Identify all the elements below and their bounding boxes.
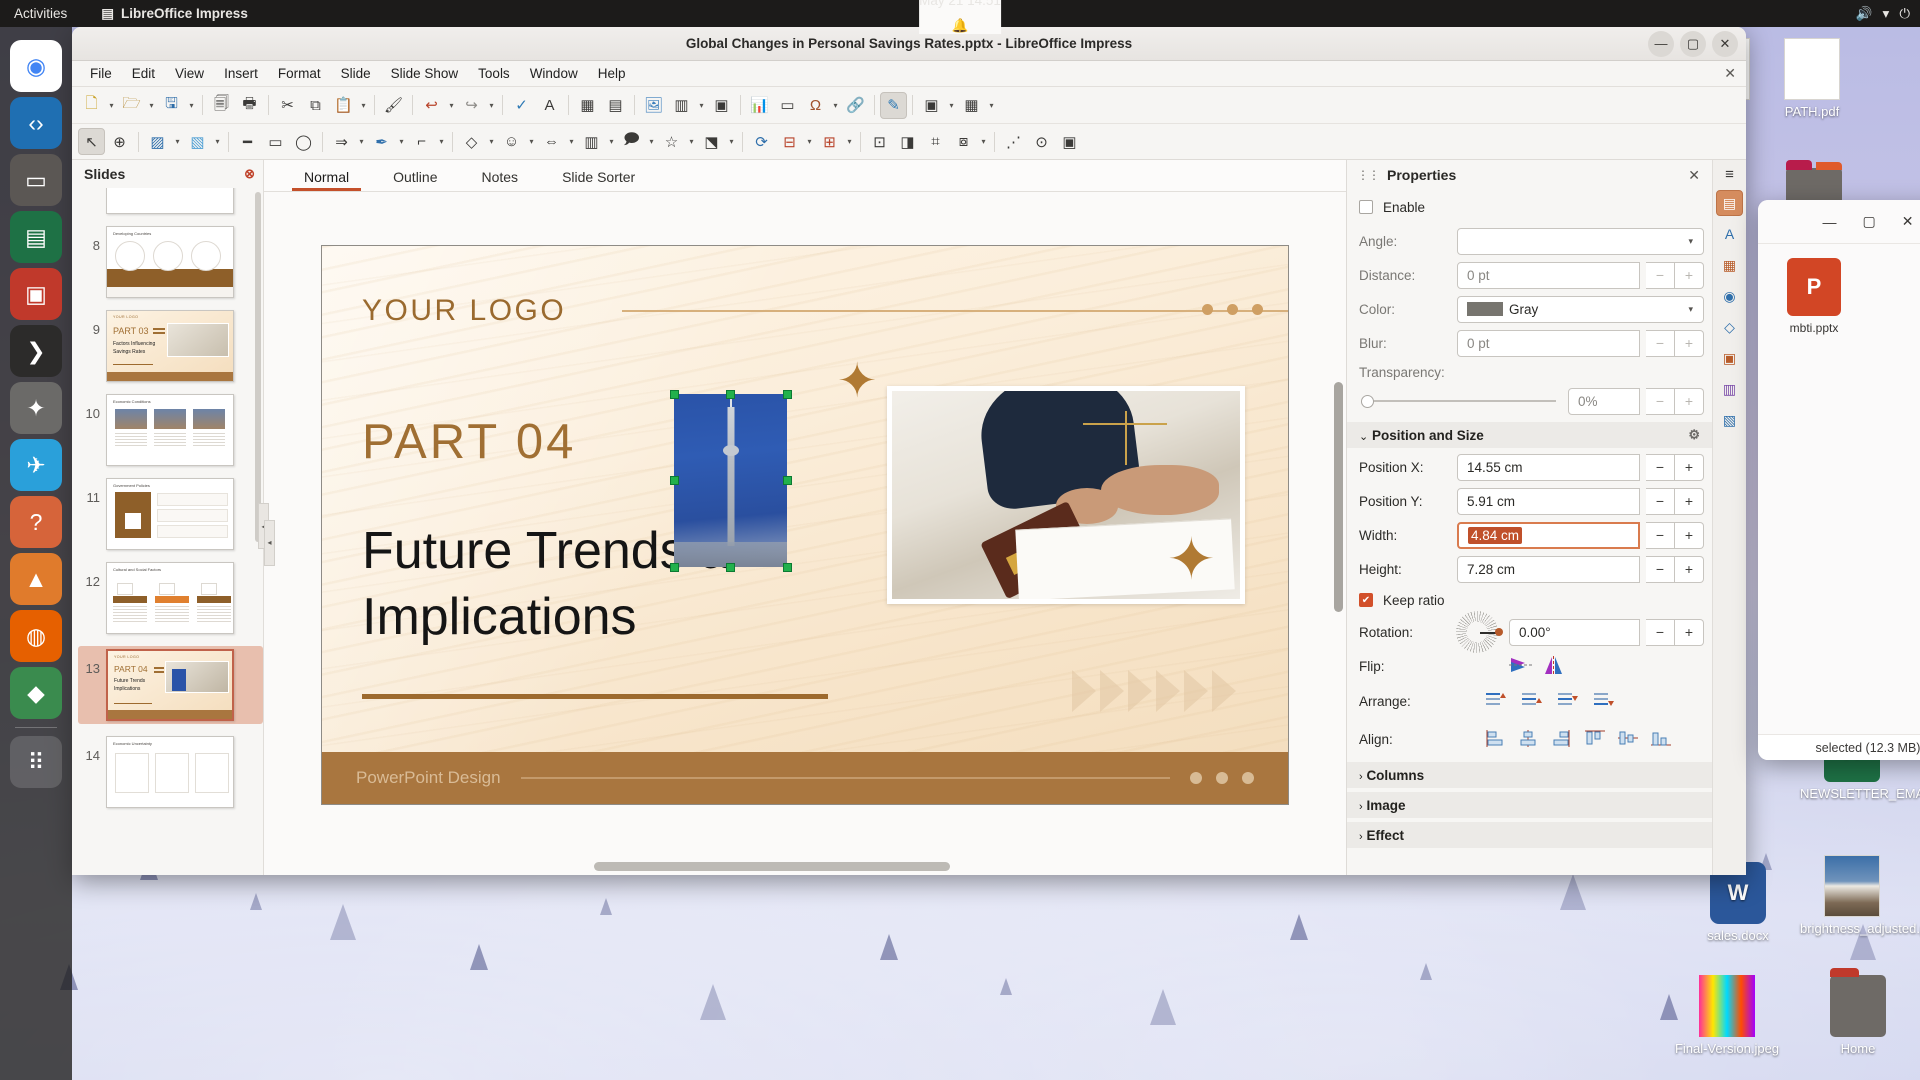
curves-and-polygons-icon[interactable]: ✒ bbox=[368, 128, 395, 155]
slide-part-label[interactable]: PART 04 bbox=[362, 414, 576, 470]
slide-number: 14 bbox=[78, 736, 100, 763]
section-title: Columns bbox=[1366, 768, 1424, 783]
menu-bar: File Edit View Insert Format Slide Slide… bbox=[72, 61, 1746, 87]
grip-icon[interactable]: ⋮⋮ bbox=[1357, 168, 1379, 182]
decrement-icon[interactable]: − bbox=[1646, 619, 1675, 646]
insert-image-icon[interactable]: 🖼 bbox=[640, 92, 667, 119]
bell-icon[interactable]: 🔔 bbox=[952, 18, 969, 34]
file-manager-titlebar: — ▢ ✕ bbox=[1758, 200, 1920, 244]
flip-horizontally-icon[interactable] bbox=[1543, 656, 1565, 676]
slide-layout-icon[interactable]: ▦ bbox=[958, 92, 985, 119]
header-dots bbox=[1202, 304, 1263, 315]
chevron-down-icon[interactable]: ▾ bbox=[830, 101, 841, 110]
dock-item-gimp[interactable]: ✦ bbox=[10, 382, 62, 434]
dock-item-chrome[interactable]: ◉ bbox=[10, 40, 62, 92]
keep-ratio-checkbox[interactable]: ✔ bbox=[1359, 593, 1373, 607]
drawing-toolbar: ↖ ⊕ ▨ ▾ ▧ ▾ ━ ▭ ◯ ⇒ ▾ ✒ ▾ ⌐ ▾ ◇ ▾ ☺ ▾ ⇔ … bbox=[72, 124, 1746, 160]
shapes-deck-icon[interactable]: ◇ bbox=[1716, 314, 1743, 340]
canvas-horizontal-scrollbar[interactable] bbox=[264, 862, 1346, 871]
blur-value: 0 pt bbox=[1467, 336, 1490, 351]
pptx-icon: P bbox=[1787, 258, 1841, 316]
flowchart-shapes-icon[interactable]: ▥ bbox=[578, 128, 605, 155]
blur-input[interactable]: 0 pt bbox=[1457, 330, 1640, 357]
dock-item-firefox[interactable]: ◍ bbox=[10, 610, 62, 662]
resize-handle-top-right[interactable] bbox=[783, 390, 792, 399]
slide-thumbnail-9[interactable]: 9 YOUR LOGO PART 03 Factors Influencing … bbox=[78, 310, 263, 382]
position-y-value: 5.91 cm bbox=[1467, 494, 1515, 509]
power-icon: ⏻ bbox=[1899, 6, 1910, 22]
chevron-down-icon[interactable]: ▾ bbox=[978, 137, 989, 146]
impress-titlebar: Global Changes in Personal Savings Rates… bbox=[72, 27, 1746, 61]
thumbnail-logo: YOUR LOGO bbox=[114, 655, 139, 659]
close-icon[interactable]: ✕ bbox=[1688, 167, 1700, 184]
dock-item-vscode[interactable]: ‹› bbox=[10, 97, 62, 149]
columns-section-header[interactable]: › Columns bbox=[1347, 762, 1712, 788]
transparency-slider[interactable] bbox=[1359, 388, 1562, 415]
ubuntu-dock: ◉ ‹› ▭ ▤ ▣ ❯ ✦ ✈ ? ▲ ◍ ◆ ⠿ bbox=[0, 27, 72, 1080]
chevron-down-icon[interactable]: ▾ bbox=[726, 137, 737, 146]
width-input[interactable]: 4.84 cm bbox=[1457, 522, 1640, 549]
insert-media-icon[interactable]: ▣ bbox=[708, 92, 735, 119]
slide-logo-text[interactable]: YOUR LOGO bbox=[362, 294, 566, 328]
logo-divider-line bbox=[622, 310, 1289, 312]
chevron-down-icon[interactable]: ▾ bbox=[436, 137, 447, 146]
slide-thumbnail-8[interactable]: 8 Developing Countries bbox=[78, 226, 263, 298]
chevron-down-icon[interactable]: ▾ bbox=[212, 137, 223, 146]
insert-chart-icon[interactable]: 📊 bbox=[746, 92, 773, 119]
decrement-icon[interactable]: − bbox=[1646, 388, 1675, 415]
new-slide-icon[interactable]: ▣ bbox=[918, 92, 945, 119]
dock-item-help[interactable]: ? bbox=[10, 496, 62, 548]
desktop-icon-brightness-png[interactable]: brightness_adjusted.png bbox=[1800, 855, 1904, 937]
arrange-row: Arrange: bbox=[1359, 682, 1704, 720]
transparency-label: Transparency: bbox=[1359, 365, 1451, 380]
filter-icon[interactable]: ⧇ bbox=[950, 128, 977, 155]
fm-minimize-button[interactable]: — bbox=[1823, 214, 1837, 230]
editing-area: Normal Outline Notes Slide Sorter YOUR L… bbox=[264, 160, 1346, 875]
master-slides-deck-icon[interactable]: ▣ bbox=[1716, 345, 1743, 371]
position-and-size-section-header[interactable]: ⌄ Position and Size ⚙ bbox=[1347, 422, 1712, 448]
decrement-icon[interactable]: − bbox=[1646, 522, 1675, 549]
slide-number: 8 bbox=[78, 226, 100, 253]
shadow-color-row: Color: Gray ▾ bbox=[1359, 292, 1704, 326]
position-y-input[interactable]: 5.91 cm bbox=[1457, 488, 1640, 515]
dock-item-telegram[interactable]: ✈ bbox=[10, 439, 62, 491]
chevron-down-icon[interactable]: ▾ bbox=[446, 101, 457, 110]
chevron-down-icon[interactable]: ▾ bbox=[696, 101, 707, 110]
chevron-right-icon: › bbox=[1359, 771, 1363, 783]
star-decoration-top: ✦ bbox=[837, 358, 877, 406]
minimize-button[interactable]: — bbox=[1648, 31, 1674, 57]
increment-icon[interactable]: + bbox=[1675, 522, 1704, 549]
align-middle-icon[interactable] bbox=[1617, 729, 1639, 749]
color-dropdown[interactable]: Gray ▾ bbox=[1457, 296, 1704, 323]
resize-handle-bottom-left[interactable] bbox=[670, 563, 679, 572]
clock-area[interactable]: May 21 14:51 🔔 bbox=[919, 0, 1001, 34]
bring-forward-icon[interactable] bbox=[1521, 691, 1543, 711]
resize-handle-bottom-center[interactable] bbox=[726, 563, 735, 572]
sidebar-body: Enable Angle: ▾ Distance: 0 pt bbox=[1347, 190, 1712, 875]
3d-objects-icon[interactable]: ⬔ bbox=[698, 128, 725, 155]
standard-toolbar: 🗋 ▾ 🗁 ▾ 🖫 ▾ 🗐 🖶 ✂ ⧉ 📋 ▾ 🖌 ↩ ▾ ↪ ▾ ✓ A ▦ … bbox=[72, 87, 1746, 124]
rotation-row: Rotation: 0.00° − + bbox=[1359, 614, 1704, 650]
tab-outline[interactable]: Outline bbox=[371, 164, 459, 191]
ellipse-icon[interactable]: ◯ bbox=[290, 128, 317, 155]
rotation-value: 0.00° bbox=[1519, 625, 1551, 640]
fm-close-button[interactable]: ✕ bbox=[1902, 213, 1914, 230]
color-value: Gray bbox=[1509, 302, 1538, 317]
slides-panel: Slides ⊗ 7 8 Developing Countries bbox=[72, 160, 264, 875]
increment-icon[interactable]: + bbox=[1675, 619, 1704, 646]
transparency-row: 0% − + bbox=[1359, 384, 1704, 418]
chevron-down-icon[interactable]: ▾ bbox=[146, 101, 157, 110]
file-manager-window: — ▢ ✕ P mbti.pptx selected (12.3 MB) bbox=[1758, 200, 1920, 760]
copy-icon[interactable]: ⧉ bbox=[302, 92, 329, 119]
chevron-down-icon[interactable]: ▾ bbox=[606, 137, 617, 146]
increment-icon[interactable]: + bbox=[1675, 556, 1704, 583]
system-status-area[interactable]: 🔊 ▾ ⏻ bbox=[1856, 6, 1910, 22]
thumbnail-title: Economic Uncertainty bbox=[113, 741, 152, 746]
dock-item-terminal[interactable]: ❯ bbox=[10, 325, 62, 377]
rotation-input[interactable]: 0.00° bbox=[1509, 619, 1640, 646]
desktop-icon-final-version-jpeg[interactable]: Final-Version.jpeg bbox=[1672, 975, 1782, 1057]
menu-slide-show[interactable]: Slide Show bbox=[381, 64, 469, 83]
paste-icon[interactable]: 📋 bbox=[330, 92, 357, 119]
menu-tools[interactable]: Tools bbox=[468, 64, 520, 83]
shadow-enable-row: Enable bbox=[1359, 190, 1704, 224]
selected-image-tokyo-skytree[interactable] bbox=[674, 394, 787, 567]
slide-thumbnail-14[interactable]: 14 Economic Uncertainty bbox=[78, 736, 263, 808]
canvas-vertical-scrollbar[interactable] bbox=[1334, 232, 1343, 851]
distribute-selection-icon[interactable]: ⊡ bbox=[866, 128, 893, 155]
thumbnail-subtitle: Future Trends Implications bbox=[114, 678, 160, 693]
show-applications-button[interactable]: ⠿ bbox=[10, 736, 62, 788]
select-icon[interactable]: ↖ bbox=[78, 128, 105, 155]
align-center-icon[interactable] bbox=[1518, 729, 1540, 749]
clone-formatting-icon[interactable]: 🖌 bbox=[380, 92, 407, 119]
chevron-decoration bbox=[1072, 670, 1236, 712]
points-icon[interactable]: ⋰ bbox=[1000, 128, 1027, 155]
gallery-deck-icon[interactable]: ▦ bbox=[1716, 252, 1743, 278]
chevron-down-icon[interactable]: ▾ bbox=[356, 137, 367, 146]
work-area: Slides ⊗ 7 8 Developing Countries bbox=[72, 160, 1746, 875]
dock-item-software[interactable]: ◆ bbox=[10, 667, 62, 719]
align-bottom-icon[interactable] bbox=[1650, 729, 1672, 749]
chevron-down-icon[interactable]: ▾ bbox=[106, 101, 117, 110]
file-manager-file-grid: P mbti.pptx bbox=[1758, 244, 1920, 349]
sidebar-settings-menu-icon[interactable]: ≡ bbox=[1725, 166, 1734, 183]
chevron-down-icon[interactable]: ▾ bbox=[486, 101, 497, 110]
increment-icon[interactable]: + bbox=[1675, 330, 1704, 357]
keep-ratio-label: Keep ratio bbox=[1383, 593, 1445, 608]
close-icon[interactable]: ⊗ bbox=[244, 166, 255, 182]
thumbnail-title: Economic Conditions bbox=[113, 399, 151, 404]
transparency-stepper[interactable]: − + bbox=[1646, 388, 1704, 415]
align-row: Align: bbox=[1359, 720, 1704, 758]
effect-section-header[interactable]: › Effect bbox=[1347, 822, 1712, 848]
width-stepper[interactable]: − + bbox=[1646, 522, 1704, 549]
status-text: selected (12.3 MB) bbox=[1816, 741, 1920, 755]
desktop-icon-label: sales.docx bbox=[1688, 928, 1788, 944]
height-input[interactable]: 7.28 cm bbox=[1457, 556, 1640, 583]
increment-icon[interactable]: + bbox=[1675, 388, 1704, 415]
position-x-row: Position X: 14.55 cm − + bbox=[1359, 450, 1704, 484]
chevron-down-icon[interactable]: ▾ bbox=[172, 137, 183, 146]
thumbnail-image: Economic Uncertainty bbox=[106, 736, 234, 808]
desktop-icon-home[interactable]: Home bbox=[1806, 975, 1910, 1057]
rectangle-icon[interactable]: ▭ bbox=[262, 128, 289, 155]
chevron-down-icon[interactable]: ▾ bbox=[186, 101, 197, 110]
keep-ratio-row: ✔ Keep ratio bbox=[1359, 586, 1704, 614]
footer-text: PowerPoint Design bbox=[356, 768, 501, 788]
menu-file[interactable]: File bbox=[80, 64, 122, 83]
view-tabs: Normal Outline Notes Slide Sorter bbox=[264, 160, 1346, 192]
file-item-mbti-pptx[interactable]: P mbti.pptx bbox=[1768, 258, 1860, 335]
align-top-icon[interactable] bbox=[1584, 729, 1606, 749]
menu-insert[interactable]: Insert bbox=[214, 64, 268, 83]
dock-item-vlc[interactable]: ▲ bbox=[10, 553, 62, 605]
fill-color-icon[interactable]: ▨ bbox=[144, 128, 171, 155]
fm-maximize-button[interactable]: ▢ bbox=[1863, 213, 1876, 230]
slide-thumbnail-11[interactable]: 11 Government Policies bbox=[78, 478, 263, 550]
hyperlink-icon[interactable]: 🔗 bbox=[842, 92, 869, 119]
chevron-down-icon[interactable]: ▾ bbox=[526, 137, 537, 146]
menu-edit[interactable]: Edit bbox=[122, 64, 165, 83]
decrement-icon[interactable]: − bbox=[1646, 262, 1675, 289]
angle-label: Angle: bbox=[1359, 234, 1451, 249]
basic-shapes-icon[interactable]: ◇ bbox=[458, 128, 485, 155]
open-icon[interactable]: 🗁 bbox=[118, 92, 145, 119]
insert-line-icon[interactable]: ━ bbox=[234, 128, 261, 155]
menu-slide[interactable]: Slide bbox=[331, 64, 381, 83]
slide-transition-deck-icon[interactable]: ▧ bbox=[1716, 407, 1743, 433]
slider-knob[interactable] bbox=[1361, 395, 1374, 408]
chevron-down-icon[interactable]: ▾ bbox=[804, 137, 815, 146]
slide-footer: PowerPoint Design bbox=[322, 752, 1288, 804]
distance-input[interactable]: 0 pt bbox=[1457, 262, 1640, 289]
slide-number: 11 bbox=[78, 478, 100, 505]
active-app-name: LibreOffice Impress bbox=[121, 6, 248, 21]
distance-value: 0 pt bbox=[1467, 268, 1490, 283]
image-section-header[interactable]: › Image bbox=[1347, 792, 1712, 818]
resize-handle-top-left[interactable] bbox=[670, 390, 679, 399]
chevron-down-icon[interactable]: ▾ bbox=[844, 137, 855, 146]
thumbnail-image: Cultural and Social Factors bbox=[106, 562, 234, 634]
slide-thumbnail-7[interactable]: 7 bbox=[78, 188, 263, 214]
activities-button[interactable]: Activities bbox=[0, 6, 79, 21]
gluepoints-icon[interactable]: ⊙ bbox=[1028, 128, 1055, 155]
slides-panel-scrollbar[interactable] bbox=[255, 192, 261, 542]
align-objects-icon[interactable]: ⊟ bbox=[776, 128, 803, 155]
zoom-icon[interactable]: ⊕ bbox=[106, 128, 133, 155]
volume-icon: 🔊 bbox=[1856, 6, 1873, 22]
dock-item-files[interactable]: ▭ bbox=[10, 154, 62, 206]
position-x-input[interactable]: 14.55 cm bbox=[1457, 454, 1640, 481]
align-left-icon[interactable] bbox=[1485, 729, 1507, 749]
redo-icon[interactable]: ↪ bbox=[458, 92, 485, 119]
flip-row: Flip: bbox=[1359, 650, 1704, 682]
distance-label: Distance: bbox=[1359, 268, 1451, 283]
arrange-label: Arrange: bbox=[1359, 694, 1451, 709]
symbol-shapes-icon[interactable]: ☺ bbox=[498, 128, 525, 155]
section-title: Effect bbox=[1366, 828, 1404, 843]
decrement-icon[interactable]: − bbox=[1646, 556, 1675, 583]
display-views-icon[interactable]: ▦ bbox=[574, 92, 601, 119]
chevron-down-icon[interactable]: ▾ bbox=[646, 137, 657, 146]
color-label: Color: bbox=[1359, 302, 1451, 317]
thumbnail-image: YOUR LOGO PART 04 Future Trends Implicat… bbox=[106, 649, 234, 721]
bring-to-front-icon[interactable] bbox=[1485, 691, 1507, 711]
arrange-icon[interactable]: ⊞ bbox=[816, 128, 843, 155]
increment-icon[interactable]: + bbox=[1675, 488, 1704, 515]
menu-format[interactable]: Format bbox=[268, 64, 331, 83]
slide-number: 9 bbox=[78, 310, 100, 337]
new-icon[interactable]: 🗋 bbox=[78, 92, 105, 119]
height-stepper[interactable]: − + bbox=[1646, 556, 1704, 583]
navigator-deck-icon[interactable]: ◉ bbox=[1716, 283, 1743, 309]
chevron-down-icon[interactable]: ▾ bbox=[486, 137, 497, 146]
position-y-row: Position Y: 5.91 cm − + bbox=[1359, 484, 1704, 518]
dock-item-impress[interactable]: ▣ bbox=[10, 268, 62, 320]
insert-table-icon[interactable]: ▥ bbox=[668, 92, 695, 119]
send-to-back-icon[interactable] bbox=[1593, 691, 1615, 711]
connectors-icon[interactable]: ⌐ bbox=[408, 128, 435, 155]
position-y-stepper[interactable]: − + bbox=[1646, 488, 1704, 515]
decrement-icon[interactable]: − bbox=[1646, 488, 1675, 515]
home-icon bbox=[1830, 975, 1886, 1037]
chevron-down-icon[interactable]: ▾ bbox=[946, 101, 957, 110]
stars-and-banners-icon[interactable]: ☆ bbox=[658, 128, 685, 155]
thumbnail-image: YOUR LOGO PART 03 Factors Influencing Sa… bbox=[106, 310, 234, 382]
section-title: Position and Size bbox=[1372, 428, 1484, 443]
align-label: Align: bbox=[1359, 732, 1451, 747]
thumbnail-title: Cultural and Social Factors bbox=[113, 567, 161, 572]
resize-handle-middle-left[interactable] bbox=[670, 476, 679, 485]
blur-stepper[interactable]: − + bbox=[1646, 330, 1704, 357]
send-backward-icon[interactable] bbox=[1557, 691, 1579, 711]
impress-icon: ▤ bbox=[101, 6, 114, 22]
line-ends-with-arrow-icon[interactable]: ⇒ bbox=[328, 128, 355, 155]
chevron-down-icon[interactable]: ▾ bbox=[986, 101, 997, 110]
insert-special-character-icon[interactable]: Ω bbox=[802, 92, 829, 119]
menu-window[interactable]: Window bbox=[520, 64, 588, 83]
menu-help[interactable]: Help bbox=[588, 64, 636, 83]
desktop-icon-label: NEWSLETTER_EMAIL_REPORT... bbox=[1800, 786, 1904, 802]
master-slide-icon[interactable]: ▤ bbox=[602, 92, 629, 119]
thumbnail-subtitle: Factors Influencing Savings Rates bbox=[113, 341, 161, 356]
shadow-icon[interactable]: ◨ bbox=[894, 128, 921, 155]
position-x-stepper[interactable]: − + bbox=[1646, 454, 1704, 481]
flip-label: Flip: bbox=[1359, 659, 1451, 674]
animation-deck-icon[interactable]: ▥ bbox=[1716, 376, 1743, 402]
undo-icon[interactable]: ↩ bbox=[418, 92, 445, 119]
slides-list[interactable]: 7 8 Developing Countries bbox=[72, 188, 263, 875]
decrement-icon[interactable]: − bbox=[1646, 454, 1675, 481]
transparency-value: 0% bbox=[1578, 394, 1598, 409]
tab-slide-sorter[interactable]: Slide Sorter bbox=[540, 164, 657, 191]
rotation-label: Rotation: bbox=[1359, 625, 1451, 640]
spelling-icon[interactable]: ✓ bbox=[508, 92, 535, 119]
save-icon[interactable]: 🖫 bbox=[158, 92, 185, 119]
desktop-icon-path-pdf[interactable]: PATH.pdf bbox=[1760, 38, 1864, 120]
dock-item-calc[interactable]: ▤ bbox=[10, 211, 62, 263]
active-app-indicator[interactable]: ▤ LibreOffice Impress bbox=[101, 6, 248, 22]
position-x-value: 14.55 cm bbox=[1467, 460, 1523, 475]
export-pdf-icon[interactable]: 🗐 bbox=[208, 92, 235, 119]
insert-textbox-icon[interactable]: ▭ bbox=[774, 92, 801, 119]
menu-view[interactable]: View bbox=[165, 64, 214, 83]
slides-panel-header: Slides ⊗ bbox=[72, 160, 263, 188]
slide-number: 10 bbox=[78, 394, 100, 421]
slide-number: 13 bbox=[78, 649, 100, 676]
align-right-icon[interactable] bbox=[1551, 729, 1573, 749]
tab-normal[interactable]: Normal bbox=[282, 164, 371, 191]
slide-canvas[interactable]: YOUR LOGO PART 04 bbox=[321, 245, 1289, 805]
resize-handle-bottom-right[interactable] bbox=[783, 563, 792, 572]
resize-handle-middle-right[interactable] bbox=[783, 476, 792, 485]
block-arrows-icon[interactable]: ⇔ bbox=[538, 128, 565, 155]
flip-vertically-icon[interactable] bbox=[1509, 656, 1531, 676]
position-x-label: Position X: bbox=[1359, 460, 1451, 475]
enable-shadow-checkbox[interactable] bbox=[1359, 200, 1373, 214]
sidebar-deck-rail: ≡ ▤ A ▦ ◉ ◇ ▣ ▥ ▧ bbox=[1712, 160, 1746, 875]
chevron-down-icon[interactable]: ▾ bbox=[396, 137, 407, 146]
increment-icon[interactable]: + bbox=[1675, 262, 1704, 289]
position-y-label: Position Y: bbox=[1359, 494, 1451, 509]
show-gluepoint-functions-icon[interactable]: ▣ bbox=[1056, 128, 1083, 155]
print-icon[interactable]: 🖶 bbox=[236, 92, 263, 119]
crop-image-icon[interactable]: ⌗ bbox=[922, 128, 949, 155]
rotate-icon[interactable]: ⟳ bbox=[748, 128, 775, 155]
png-icon bbox=[1824, 855, 1880, 917]
slide-canvas-wrapper: YOUR LOGO PART 04 bbox=[264, 192, 1346, 875]
callout-shapes-icon[interactable]: 🗩 bbox=[618, 128, 645, 155]
gear-icon[interactable]: ⚙ bbox=[1688, 427, 1700, 443]
thumbnail-logo: YOUR LOGO bbox=[113, 315, 138, 319]
rotation-stepper[interactable]: − + bbox=[1646, 619, 1704, 646]
formatting-marks-icon[interactable]: A bbox=[536, 92, 563, 119]
properties-deck-icon[interactable]: ▤ bbox=[1716, 190, 1743, 216]
chevron-down-icon[interactable]: ▾ bbox=[358, 101, 369, 110]
cut-icon[interactable]: ✂ bbox=[274, 92, 301, 119]
properties-sidebar: ⋮⋮ Properties ✕ Enable Angle: ▾ bbox=[1346, 160, 1746, 875]
canvas-left-collapse-handle[interactable]: ◂ bbox=[264, 520, 275, 566]
close-document-button[interactable]: ✕ bbox=[1724, 65, 1736, 82]
decrement-icon[interactable]: − bbox=[1646, 330, 1675, 357]
resize-handle-top-center[interactable] bbox=[726, 390, 735, 399]
slide-thumbnail-12[interactable]: 12 Cultural and Social Factors bbox=[78, 562, 263, 634]
slide-thumbnail-13[interactable]: 13 YOUR LOGO PART 04 Future Trends Impli… bbox=[78, 646, 263, 724]
impress-window: Global Changes in Personal Savings Rates… bbox=[72, 27, 1746, 875]
close-button[interactable]: ✕ bbox=[1712, 31, 1738, 57]
slides-panel-title: Slides bbox=[84, 166, 125, 182]
character-deck-icon[interactable]: A bbox=[1716, 221, 1743, 247]
line-color-icon[interactable]: ▧ bbox=[184, 128, 211, 155]
star-decoration-bottom: ✦ bbox=[1167, 531, 1216, 589]
chevron-down-icon[interactable]: ▾ bbox=[686, 137, 697, 146]
chevron-down-icon[interactable]: ▾ bbox=[566, 137, 577, 146]
distance-stepper[interactable]: − + bbox=[1646, 262, 1704, 289]
angle-dropdown[interactable]: ▾ bbox=[1457, 228, 1704, 255]
show-draw-functions-icon[interactable]: ✎ bbox=[880, 92, 907, 119]
tab-notes[interactable]: Notes bbox=[459, 164, 540, 191]
thumbnail-image: Developing Countries bbox=[106, 226, 234, 298]
rotation-dial[interactable] bbox=[1457, 609, 1503, 655]
increment-icon[interactable]: + bbox=[1675, 454, 1704, 481]
maximize-button[interactable]: ▢ bbox=[1680, 31, 1706, 57]
slide-thumbnail-10[interactable]: 10 Economic Conditions bbox=[78, 394, 263, 466]
transparency-input[interactable]: 0% bbox=[1568, 388, 1640, 415]
